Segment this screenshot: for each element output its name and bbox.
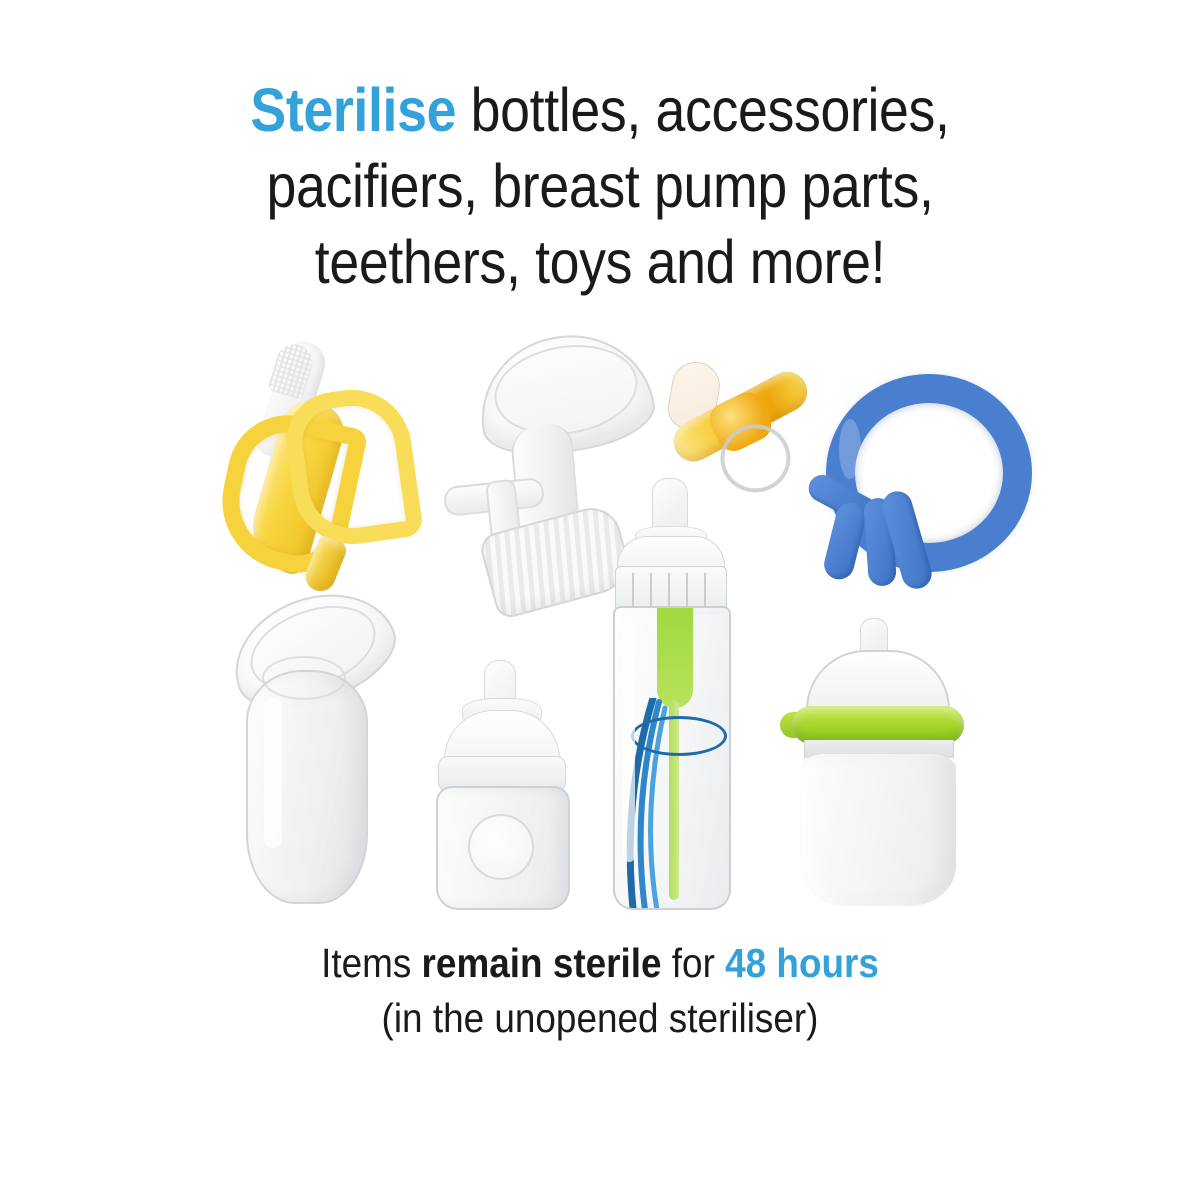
tall-bottle-body-icon: [613, 606, 731, 910]
tall-bottle-ellipse-graphic: [631, 716, 727, 756]
product-stage: [200, 330, 1000, 910]
headline-line-2: pacifiers, breast pump parts,: [142, 148, 1057, 224]
product-small-baby-bottle: [422, 660, 582, 908]
poster: Sterilise bottles, accessories, pacifier…: [0, 0, 1200, 1200]
product-tall-vented-bottle: [595, 478, 745, 910]
footer-part-1: Items: [321, 940, 421, 986]
manual-pump-neck-icon: [262, 656, 346, 700]
headline-line-1-rest: bottles, accessories,: [456, 76, 950, 144]
headline-line-3: teethers, toys and more!: [142, 224, 1057, 300]
product-silicone-manual-pump: [210, 598, 420, 908]
footer-part-2: for: [662, 940, 726, 986]
tall-bottle-vent-reservoir-icon: [657, 608, 693, 708]
manual-pump-body-icon: [246, 670, 368, 904]
footer-accent-phrase: 48 hours: [725, 940, 879, 986]
headline-line-1: Sterilise bottles, accessories,: [142, 72, 1057, 148]
headline-accent-word: Sterilise: [250, 76, 456, 144]
product-green-collar-bottle: [778, 618, 978, 910]
headline: Sterilise bottles, accessories, pacifier…: [142, 72, 1057, 300]
product-ring-teether: [800, 374, 980, 604]
small-bottle-grip-icon: [468, 814, 534, 880]
footer-line-2: (in the unopened steriliser): [132, 991, 1068, 1046]
product-banana-teether-toothbrush: [218, 338, 418, 588]
footer: Items remain sterile for 48 hours (in th…: [132, 936, 1068, 1046]
footer-strong-phrase: remain sterile: [422, 940, 662, 986]
green-bottle-collar-icon: [792, 706, 964, 744]
green-bottle-body-icon: [800, 754, 956, 906]
footer-line-1: Items remain sterile for 48 hours: [132, 936, 1068, 991]
